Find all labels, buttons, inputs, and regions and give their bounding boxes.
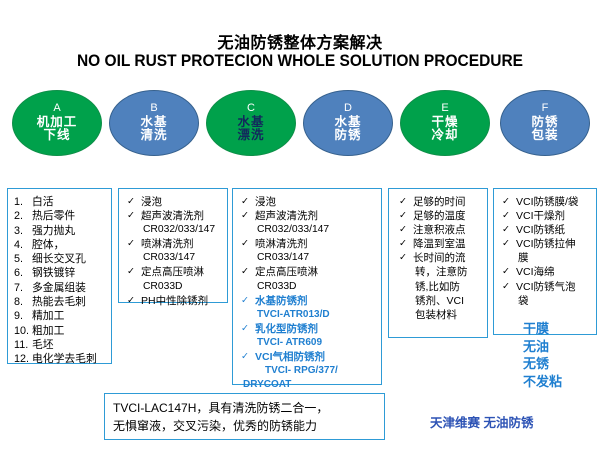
list-item-label: 水基防锈剂 [255, 294, 381, 308]
list-item-label: 定点高压喷淋 [255, 265, 381, 279]
flow-step-letter: D [344, 103, 352, 115]
list-item: ✓VCI干燥剂 [502, 209, 596, 223]
list-item-label: 热能去毛刺 [32, 295, 111, 309]
check-icon: ✓ [241, 294, 255, 308]
flow-step-line2: 防锈 [334, 129, 361, 143]
list-item-label: 钢铁镀锌 [32, 266, 111, 280]
list-item-label: PH中性除锈剂 [141, 294, 227, 308]
flow-step-line2: 包装 [531, 129, 558, 143]
water-rinse-box: ✓浸泡✓超声波清洗剂CR032/033/147✓喷淋清洗剂CR033/147✓定… [232, 188, 382, 385]
check-icon: ✓ [241, 237, 255, 251]
list-item: ✓喷淋清洗剂 [127, 237, 227, 251]
list-item-label: VCI海绵 [516, 265, 596, 279]
list-number: 6. [14, 266, 32, 280]
check-icon: ✓ [399, 237, 413, 251]
check-icon: ✓ [127, 195, 141, 209]
check-icon: ✓ [399, 223, 413, 237]
list-item: ✓VCI防锈拉伸 [502, 237, 596, 251]
flow-step-a[interactable]: A机加工下线 [12, 90, 102, 156]
list-item-label: 定点高压喷淋 [141, 265, 227, 279]
list-number: 2. [14, 209, 32, 223]
list-item: 4.腔体， [14, 238, 111, 252]
list-item: ✓乳化型防锈剂 [241, 322, 381, 336]
list-item: 12.电化学去毛刺 [14, 352, 111, 366]
flow-step-line2: 清洗 [140, 129, 167, 143]
list-item: ✓水基防锈剂 [241, 294, 381, 308]
list-item: ✓VCI防锈膜/袋 [502, 195, 596, 209]
list-item: ✓VCI防锈气泡 [502, 280, 596, 294]
check-icon: ✓ [241, 265, 255, 279]
list-item-label: 腔体， [32, 238, 111, 252]
list-item-label: 细长交叉孔 [32, 252, 111, 266]
flow-step-letter: B [150, 103, 157, 115]
water-rinse-list: ✓浸泡✓超声波清洗剂CR032/033/147✓喷淋清洗剂CR033/147✓定… [233, 189, 381, 392]
rust-packaging-box: ✓VCI防锈膜/袋✓VCI干燥剂✓VCI防锈纸✓VCI防锈拉伸膜✓VCI海绵✓V… [493, 188, 597, 335]
list-item: 1.白活 [14, 195, 111, 209]
list-item: 6.钢铁镀锌 [14, 266, 111, 280]
list-item-label: 乳化型防锈剂 [255, 322, 381, 336]
list-item: ✓超声波清洗剂 [241, 209, 381, 223]
list-item-code: CR032/033/147 [127, 223, 227, 237]
check-icon: ✓ [502, 209, 516, 223]
list-item-label: 粗加工 [32, 324, 111, 338]
list-item: 3.强力抛丸 [14, 224, 111, 238]
slogan-line: 干膜 [505, 320, 595, 338]
list-item-code: CR033D [241, 280, 381, 294]
list-number: 12. [14, 352, 32, 366]
water-wash-list: ✓浸泡✓超声波清洗剂CR032/033/147✓喷淋清洗剂CR033/147✓定… [119, 189, 227, 308]
summary-line-1: TVCI-LAC147H，具有清洗防锈二合一， [105, 399, 384, 417]
check-icon: ✓ [502, 223, 516, 237]
flow-step-c[interactable]: C水基漂洗 [206, 90, 296, 156]
flow-step-b[interactable]: B水基清洗 [109, 90, 199, 156]
flow-step-letter: E [441, 103, 448, 115]
list-item: ✓VCI海绵 [502, 265, 596, 279]
flow-step-e[interactable]: E干燥冷却 [400, 90, 490, 156]
list-item-continuation: 锈,比如防 [399, 280, 487, 294]
flow-step-f[interactable]: F防锈包装 [500, 90, 590, 156]
water-wash-box: ✓浸泡✓超声波清洗剂CR032/033/147✓喷淋清洗剂CR033/147✓定… [118, 188, 228, 303]
list-item-label: VCI防锈气泡 [516, 280, 596, 294]
check-icon: ✓ [399, 251, 413, 265]
list-item: 7.多金属组装 [14, 281, 111, 295]
list-item-label: 降温到室温 [413, 237, 487, 251]
list-item: ✓降温到室温 [399, 237, 487, 251]
rust-packaging-list: ✓VCI防锈膜/袋✓VCI干燥剂✓VCI防锈纸✓VCI防锈拉伸膜✓VCI海绵✓V… [494, 189, 596, 308]
list-item-label: 毛坯 [32, 338, 111, 352]
page-title-en: NO OIL RUST PROTECION WHOLE SOLUTION PRO… [18, 52, 582, 71]
company-footer: 天津维赛 无油防锈 [430, 412, 533, 431]
flow-step-line2: 下线 [43, 129, 70, 143]
summary-banner: TVCI-LAC147H，具有清洗防锈二合一， 无惧窜液，交叉污染，优秀的防锈能… [104, 393, 385, 440]
list-item-continuation: 袋 [502, 294, 596, 308]
list-item-label: 喷淋清洗剂 [255, 237, 381, 251]
list-item-label: 热后零件 [32, 209, 111, 223]
list-item-label: 电化学去毛刺 [32, 352, 111, 366]
list-item-label: 足够的时间 [413, 195, 487, 209]
drying-cooling-list: ✓足够的时间✓足够的温度✓注意积液点✓降温到室温✓长时间的流转，注意防锈,比如防… [389, 189, 487, 322]
check-icon: ✓ [241, 195, 255, 209]
check-icon: ✓ [127, 237, 141, 251]
list-number: 10. [14, 324, 32, 338]
check-icon: ✓ [241, 350, 255, 364]
list-item-label: VCI防锈膜/袋 [516, 195, 596, 209]
list-number: 11. [14, 338, 32, 352]
list-item-label: 注意积液点 [413, 223, 487, 237]
list-item-label: 足够的温度 [413, 209, 487, 223]
list-item: ✓定点高压喷淋 [241, 265, 381, 279]
list-item-label: 浸泡 [141, 195, 227, 209]
summary-line-2: 无惧窜液，交叉污染，优秀的防锈能力 [105, 417, 384, 435]
list-item-code: TVCI- ATR609 [241, 336, 381, 350]
list-item-label: 长时间的流 [413, 251, 487, 265]
flow-step-letter: C [247, 103, 255, 115]
list-item-code: CR033D [127, 280, 227, 294]
list-item-label: 超声波清洗剂 [141, 209, 227, 223]
check-icon: ✓ [127, 265, 141, 279]
slogan-block: 干膜无油无锈不发粘 [505, 320, 595, 390]
list-item: ✓长时间的流 [399, 251, 487, 265]
check-icon: ✓ [399, 195, 413, 209]
drying-cooling-box: ✓足够的时间✓足够的温度✓注意积液点✓降温到室温✓长时间的流转，注意防锈,比如防… [388, 188, 488, 338]
check-icon: ✓ [399, 209, 413, 223]
process-scope-list: 1.白活2.热后零件3.强力抛丸4.腔体，5.细长交叉孔6.钢铁镀锌7.多金属组… [8, 189, 111, 367]
list-item-continuation: 转，注意防 [399, 265, 487, 279]
list-item-continuation: 包装材料 [399, 308, 487, 322]
list-item-label: 喷淋清洗剂 [141, 237, 227, 251]
list-item-label: VCI防锈拉伸 [516, 237, 596, 251]
check-icon: ✓ [502, 265, 516, 279]
list-item-label: VCI防锈纸 [516, 223, 596, 237]
list-item: 5.细长交叉孔 [14, 252, 111, 266]
list-item-continuation: 锈剂、VCI [399, 294, 487, 308]
list-item-label: VCI气相防锈剂 [255, 350, 381, 364]
list-item: ✓喷淋清洗剂 [241, 237, 381, 251]
list-item: 8.热能去毛刺 [14, 295, 111, 309]
list-item-code: CR032/033/147 [241, 223, 381, 237]
list-item-code: TVCI-ATR013/D [241, 308, 381, 322]
slogan-line: 无锈 [505, 355, 595, 373]
list-item: ✓PH中性除锈剂 [127, 294, 227, 308]
list-item-label: 浸泡 [255, 195, 381, 209]
list-item: 9.精加工 [14, 309, 111, 323]
list-item: 10.粗加工 [14, 324, 111, 338]
list-item: ✓VCI防锈纸 [502, 223, 596, 237]
list-item-continuation: 膜 [502, 251, 596, 265]
flow-step-d[interactable]: D水基防锈 [303, 90, 393, 156]
list-item: ✓VCI气相防锈剂 [241, 350, 381, 364]
list-item-code: TVCI- RPG/377/ [241, 364, 381, 378]
list-item-label: 多金属组装 [32, 281, 111, 295]
slogan-line: 不发粘 [505, 373, 595, 391]
check-icon: ✓ [241, 209, 255, 223]
list-number: 1. [14, 195, 32, 209]
list-number: 8. [14, 295, 32, 309]
list-item-code: CR033/147 [241, 251, 381, 265]
slide-canvas: 无油防锈整体方案解决 NO OIL RUST PROTECION WHOLE S… [0, 0, 600, 450]
list-item: ✓浸泡 [241, 195, 381, 209]
flow-step-line2: 漂洗 [237, 129, 264, 143]
flow-step-line2: 冷却 [431, 129, 458, 143]
list-item: ✓注意积液点 [399, 223, 487, 237]
page-title-zh: 无油防锈整体方案解决 [0, 29, 600, 53]
list-item-code: CR033/147 [127, 251, 227, 265]
list-item: ✓足够的温度 [399, 209, 487, 223]
process-scope-box: 1.白活2.热后零件3.强力抛丸4.腔体，5.细长交叉孔6.钢铁镀锌7.多金属组… [7, 188, 112, 364]
list-number: 4. [14, 238, 32, 252]
list-item-label: 精加工 [32, 309, 111, 323]
list-number: 5. [14, 252, 32, 266]
check-icon: ✓ [502, 195, 516, 209]
list-item-label: VCI干燥剂 [516, 209, 596, 223]
list-item: ✓浸泡 [127, 195, 227, 209]
list-item: 11.毛坯 [14, 338, 111, 352]
check-icon: ✓ [241, 322, 255, 336]
check-icon: ✓ [127, 294, 141, 308]
list-item-code: DRYCOAT [241, 378, 381, 392]
list-item: ✓定点高压喷淋 [127, 265, 227, 279]
check-icon: ✓ [502, 237, 516, 251]
list-item-label: 白活 [32, 195, 111, 209]
list-item: ✓足够的时间 [399, 195, 487, 209]
list-item-label: 强力抛丸 [32, 224, 111, 238]
list-item: ✓超声波清洗剂 [127, 209, 227, 223]
flow-step-letter: A [53, 103, 60, 115]
list-number: 9. [14, 309, 32, 323]
list-number: 7. [14, 281, 32, 295]
check-icon: ✓ [127, 209, 141, 223]
slogan-line: 无油 [505, 338, 595, 356]
list-item: 2.热后零件 [14, 209, 111, 223]
flow-step-letter: F [542, 103, 549, 115]
list-number: 3. [14, 224, 32, 238]
check-icon: ✓ [502, 280, 516, 294]
list-item-label: 超声波清洗剂 [255, 209, 381, 223]
